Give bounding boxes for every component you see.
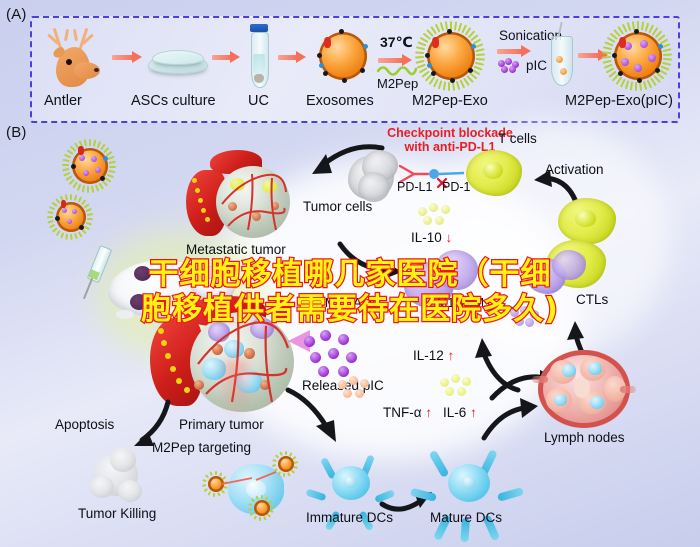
mature-dc-illustration xyxy=(432,448,508,518)
mature-dcs-label: Mature DCs xyxy=(430,510,502,525)
pic-annotation: pIC xyxy=(526,58,547,73)
arrow-to-m2-tams xyxy=(338,236,414,280)
apoptotic-cell-illustration xyxy=(90,448,146,504)
metastatic-tumor-illustration xyxy=(186,150,304,246)
nanoparticle-small-icon xyxy=(49,195,93,239)
lymph-nodes-label: Lymph nodes xyxy=(544,430,625,445)
il-10-cytokine-dots xyxy=(418,203,458,229)
ctls-label: CTLs xyxy=(576,292,608,307)
right-glow xyxy=(430,120,670,360)
apoptosis-label: Apoptosis xyxy=(55,417,114,432)
m2-tams-label: M2-TAMs xyxy=(325,296,378,310)
petri-dish-icon xyxy=(148,50,206,76)
primary-tumor-label: Primary tumor xyxy=(179,417,264,432)
tumor-cells-label: Tumor cells xyxy=(303,199,372,214)
tnf-alpha-up-arrow: ↑ xyxy=(425,405,432,420)
figure-canvas: (A) Antler ASCs culture UC xyxy=(0,0,700,547)
arrow-antler-to-culture xyxy=(112,52,142,62)
t-cells-label: T cells xyxy=(498,131,537,146)
metastatic-tumor-label: Metastatic tumor xyxy=(186,242,286,257)
panel-a-label-m2pep-exo: M2Pep-Exo xyxy=(412,93,488,109)
il-12-up-arrow: ↑ xyxy=(448,348,455,363)
il-10-down-arrow: ↓ xyxy=(446,230,453,245)
il-6-dots xyxy=(440,374,480,400)
release-beam xyxy=(224,360,248,418)
lymph-nodes-illustration xyxy=(532,346,636,432)
panel-a-label-final: M2Pep-Exo(pIC) xyxy=(565,93,673,109)
arrow-uc-to-exosomes xyxy=(278,52,306,62)
tumor-killing-label: Tumor Killing xyxy=(78,506,156,521)
panel-a-tag: (A) xyxy=(6,6,27,23)
tnf-alpha-text: TNF-α xyxy=(383,405,422,420)
il-6-label: IL-6 ↑ xyxy=(443,405,477,420)
released-pic-dots xyxy=(304,330,362,376)
m1-tams-label: M1-TAMs xyxy=(437,296,490,310)
temperature-annotation: 37℃ xyxy=(380,34,413,51)
t-cell-illustration xyxy=(466,150,522,196)
centrifuge-tube-icon xyxy=(248,24,270,88)
il-12-text: IL-12 xyxy=(413,348,444,363)
loaded-exosome-icon xyxy=(604,22,672,90)
immature-dc-illustration xyxy=(320,452,384,514)
panel-b-tag: (B) xyxy=(6,124,27,141)
pd1-label: PD-1 xyxy=(442,180,470,194)
arrow-culture-to-uc xyxy=(212,52,240,62)
il-6-text: IL-6 xyxy=(443,405,466,420)
panel-a-label-asc: ASCs culture xyxy=(131,93,216,109)
nanoparticle-large-icon xyxy=(64,140,116,192)
il-6-up-arrow: ↑ xyxy=(470,405,477,420)
tnf-alpha-dots xyxy=(338,376,378,402)
arrow-m2pep-to-loaded xyxy=(497,46,531,56)
m2pep-squiggle-icon xyxy=(377,63,417,77)
tnf-alpha-label: TNF-α ↑ xyxy=(383,405,432,420)
il-10-text: IL-10 xyxy=(411,230,442,245)
panel-a-label-exosomes: Exosomes xyxy=(306,93,374,109)
ctl-cell-1 xyxy=(558,198,616,244)
pdl1-label: PD-L1 xyxy=(397,180,432,194)
panel-a-label-uc: UC xyxy=(248,93,269,109)
il-12-label: IL-12 ↑ xyxy=(413,348,454,363)
m2pep-annotation: M2Pep xyxy=(377,76,418,91)
sonicator-tube-icon xyxy=(547,22,575,88)
il-10-label: IL-10 ↓ xyxy=(411,230,452,245)
panel-a-label-antler: Antler xyxy=(44,93,82,109)
deer-head-icon xyxy=(44,27,106,89)
pic-dots-icon xyxy=(498,58,522,74)
m1-tam-cell-2 xyxy=(552,250,586,280)
m1-tam-dots xyxy=(510,306,546,328)
peptide-exosome-icon xyxy=(417,22,485,90)
exosome-icon xyxy=(315,28,371,84)
m2pep-targeting-illustration xyxy=(196,452,322,516)
m2-tam-cell-2 xyxy=(434,250,478,290)
